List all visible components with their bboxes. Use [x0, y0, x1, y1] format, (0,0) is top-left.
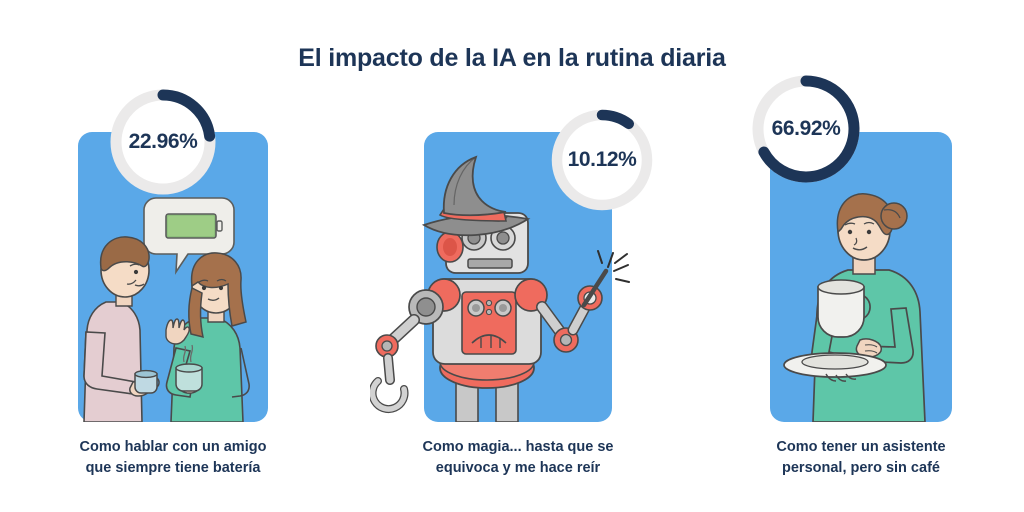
infographic-root: El impacto de la IA en la rutina diaria — [0, 0, 1024, 512]
donut-chart-1: 22.96% — [110, 89, 216, 195]
page-title: El impacto de la IA en la rutina diaria — [0, 44, 1024, 73]
panel-caption-1: Como hablar con un amigo que siempre tie… — [28, 437, 318, 479]
donut-chart-3: 66.92% — [752, 75, 860, 183]
panel-caption-2: Como magia... hasta que se equivoca y me… — [373, 437, 663, 479]
panel-caption-3: Como tener un asistente personal, pero s… — [716, 437, 1006, 479]
illustration-woman-with-coffee — [770, 188, 952, 422]
donut-chart-2: 10.12% — [551, 109, 653, 211]
illustration-two-people-talking — [78, 196, 268, 422]
